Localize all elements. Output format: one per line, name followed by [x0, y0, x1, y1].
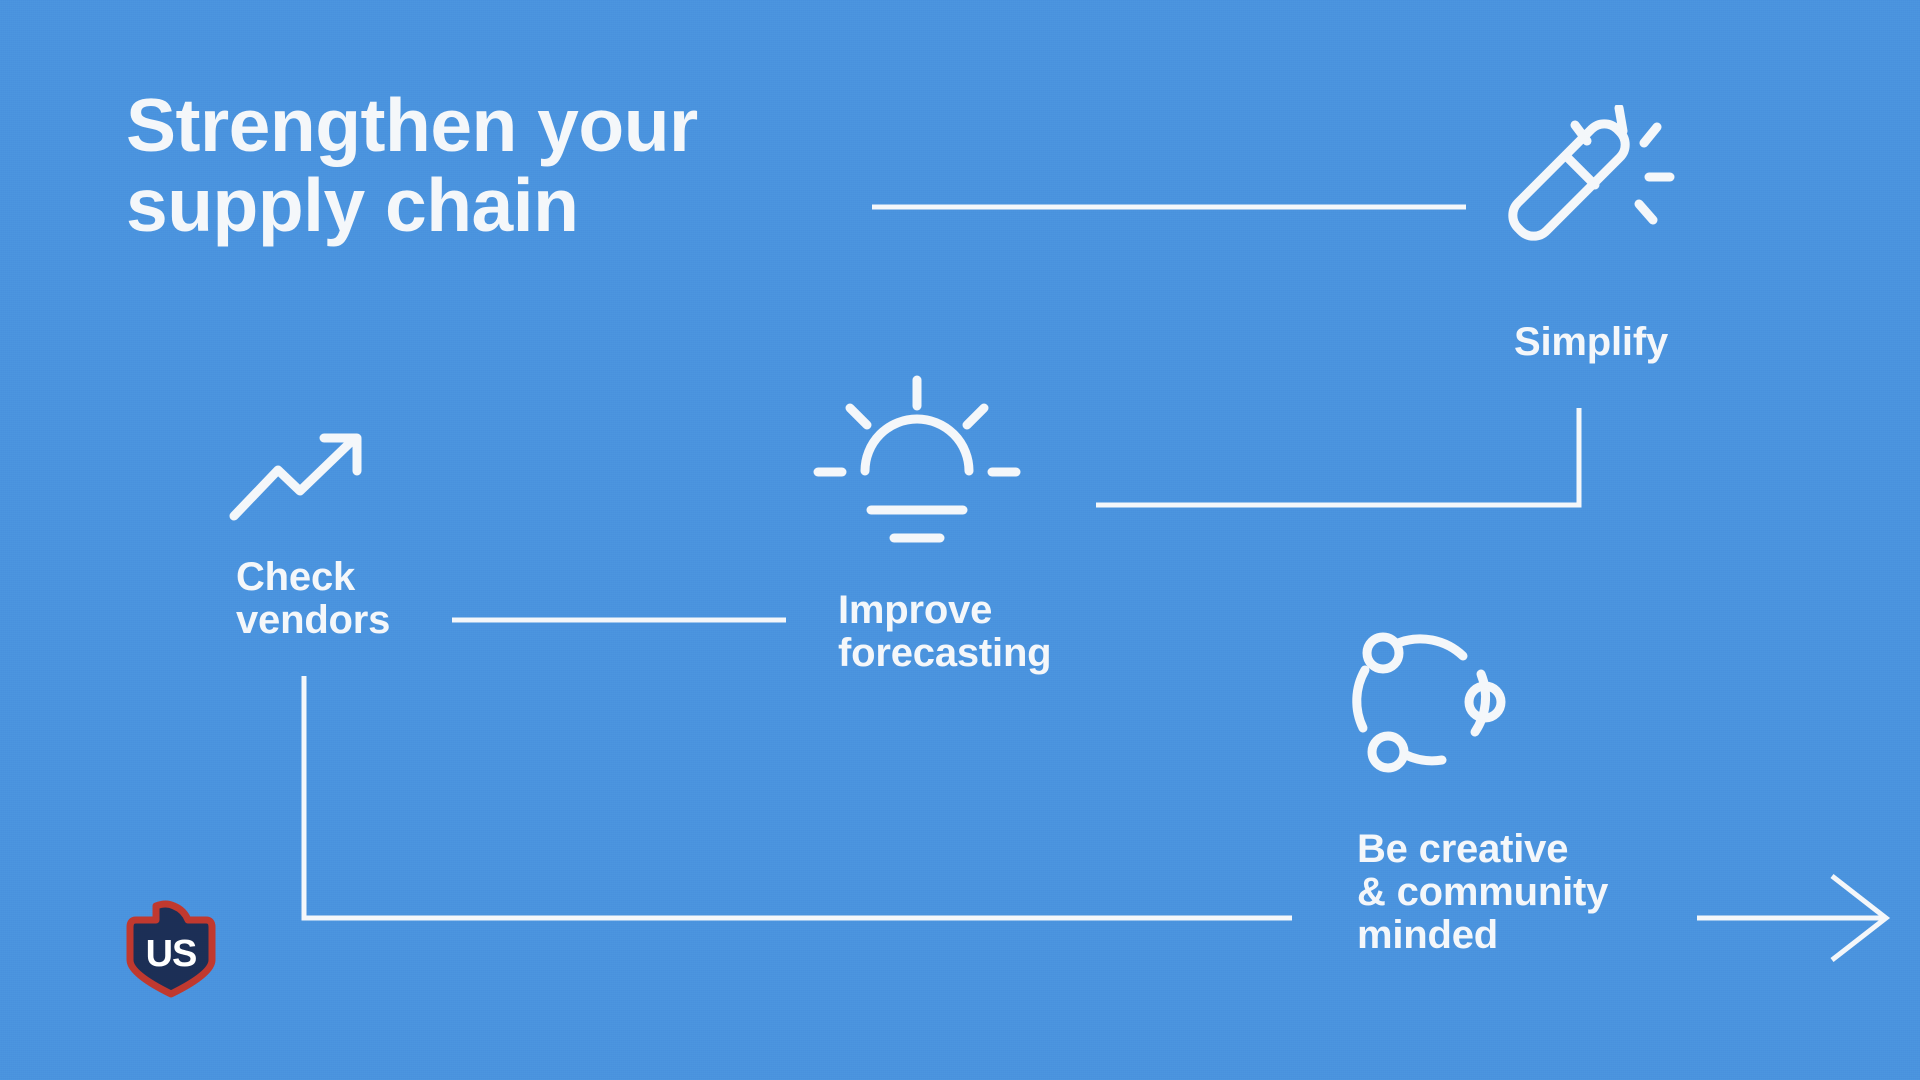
- flow-arrow: [1697, 876, 1886, 960]
- node-label-simplify: Simplify: [1514, 321, 1668, 364]
- trending-up-icon: [228, 428, 373, 523]
- logo-text: US: [146, 933, 197, 975]
- connector-simplify-elbow: [1096, 408, 1579, 505]
- slide-canvas: Strengthen your supply chain: [0, 0, 1920, 1080]
- node-label-check-vendors: Check vendors: [236, 556, 390, 642]
- node-label-be-creative: Be creative & community minded: [1357, 828, 1608, 958]
- magic-wand-icon: [1505, 105, 1690, 270]
- connector-vendors-elbow: [304, 676, 1292, 918]
- network-circle-icon: [1335, 612, 1515, 782]
- sunrise-icon: [808, 368, 1023, 543]
- page-title: Strengthen your supply chain: [126, 86, 946, 245]
- node-label-improve-forecasting: Improve forecasting: [838, 589, 1051, 675]
- us-shield-logo: US: [126, 898, 216, 998]
